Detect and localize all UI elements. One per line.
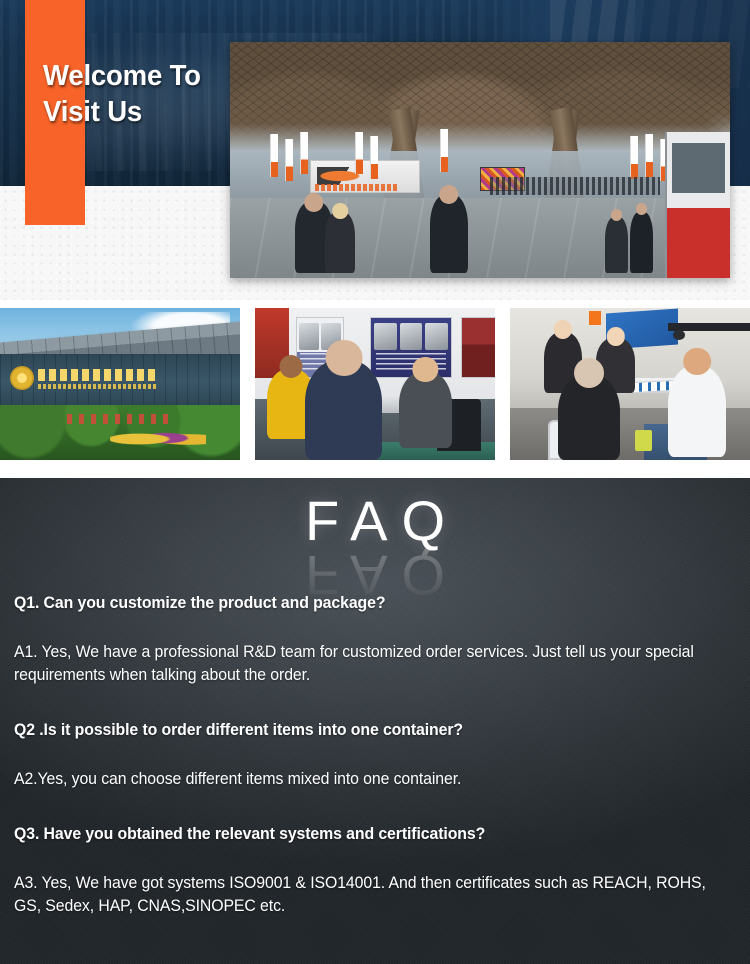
spacer xyxy=(14,687,740,719)
booth-photo-person xyxy=(305,360,382,460)
faq-answer-3: A3. Yes, We have got systems ISO9001 & I… xyxy=(14,872,711,918)
meeting-photo-person-head xyxy=(574,358,604,388)
faq-answer-2: A2.Yes, you can choose different items m… xyxy=(14,768,711,791)
hero-photo-exhibit-truck xyxy=(310,160,420,193)
hero-photo-fair-entrance xyxy=(230,42,730,278)
meeting-photo-orange-sign xyxy=(589,311,601,325)
hero-photo-canopy-mesh xyxy=(230,42,730,141)
hero-photo-flag xyxy=(285,139,293,181)
spacer xyxy=(14,741,740,768)
canton-fair-logo-icon xyxy=(10,366,34,390)
faq-question-3: Q3. Have you obtained the relevant syste… xyxy=(14,823,711,845)
spacer xyxy=(14,614,740,641)
hero-photo-crowd xyxy=(490,177,660,196)
fair-photo-english-signage xyxy=(38,384,158,389)
hero-photo-flag xyxy=(355,132,363,174)
hero-photo-flag xyxy=(300,132,308,174)
hero-photo-visitor-head xyxy=(439,185,459,205)
fair-photo-flowerbed xyxy=(110,427,206,451)
booth-photo-poster-images xyxy=(374,323,447,350)
meeting-photo-person xyxy=(668,366,726,457)
spacer xyxy=(14,845,740,872)
faq-entry-list: Q1. Can you customize the product and pa… xyxy=(14,592,740,918)
hero-photo-shuttle-bus xyxy=(665,132,730,278)
fair-photo-facade xyxy=(0,354,240,412)
meeting-photo-person xyxy=(558,375,620,460)
hero-photo-visitor xyxy=(630,212,653,273)
hero-photo-flag xyxy=(440,129,448,171)
welcome-title: Welcome To Visit Us xyxy=(43,58,201,130)
faq-title-block: FAQ FAQ xyxy=(0,490,750,604)
meeting-photo-bag xyxy=(635,430,652,451)
exhibition-photo-row xyxy=(0,308,750,460)
meeting-photo-person-head xyxy=(554,320,572,338)
spacer xyxy=(14,791,740,823)
hero-photo-visitor xyxy=(430,195,468,273)
booth-photo-person-head xyxy=(325,340,362,377)
meeting-photo-person-head xyxy=(606,327,624,345)
hero-photo-flag xyxy=(370,136,378,178)
faq-answer-1: A1. Yes, We have a professional R&D team… xyxy=(14,641,711,687)
hero-photo-visitor-head xyxy=(304,193,324,213)
photo-booth-meeting-table xyxy=(510,308,750,460)
booth-photo-person xyxy=(399,372,452,448)
hero-photo-visitor-head xyxy=(611,209,623,221)
booth-photo-poster xyxy=(461,317,495,378)
welcome-hero-section: Welcome To Visit Us xyxy=(0,0,750,300)
hero-photo-truck-lettering xyxy=(315,184,397,191)
faq-title: FAQ xyxy=(291,490,459,552)
hero-photo-visitor-head xyxy=(332,203,348,219)
faq-question-2: Q2 .Is it possible to order different it… xyxy=(14,719,711,741)
hero-photo-flag xyxy=(630,136,638,178)
photo-booth-meeting-yellow-shirt xyxy=(255,308,495,460)
page-root: Welcome To Visit Us xyxy=(0,0,750,964)
hero-photo-flag xyxy=(645,134,653,176)
booth-photo-poster xyxy=(370,317,452,378)
hero-photo-visitor xyxy=(325,212,355,273)
photo-canton-fair-complex xyxy=(0,308,240,460)
hero-photo-flag xyxy=(270,134,278,176)
faq-section: FAQ FAQ Q1. Can you customize the produc… xyxy=(0,478,750,964)
fair-photo-welcome-lettering xyxy=(67,414,168,423)
faq-question-1: Q1. Can you customize the product and pa… xyxy=(14,592,711,614)
booth-photo-person-head xyxy=(279,355,302,378)
hero-photo-visitor-head xyxy=(636,203,648,215)
booth-photo-person-head xyxy=(413,357,438,382)
hero-photo-truck-graphic xyxy=(317,167,373,185)
meeting-photo-display-arm xyxy=(668,323,750,331)
hero-photo-visitor xyxy=(605,217,628,274)
meeting-photo-person-head xyxy=(683,348,711,376)
fair-photo-chinese-signage xyxy=(38,369,158,381)
